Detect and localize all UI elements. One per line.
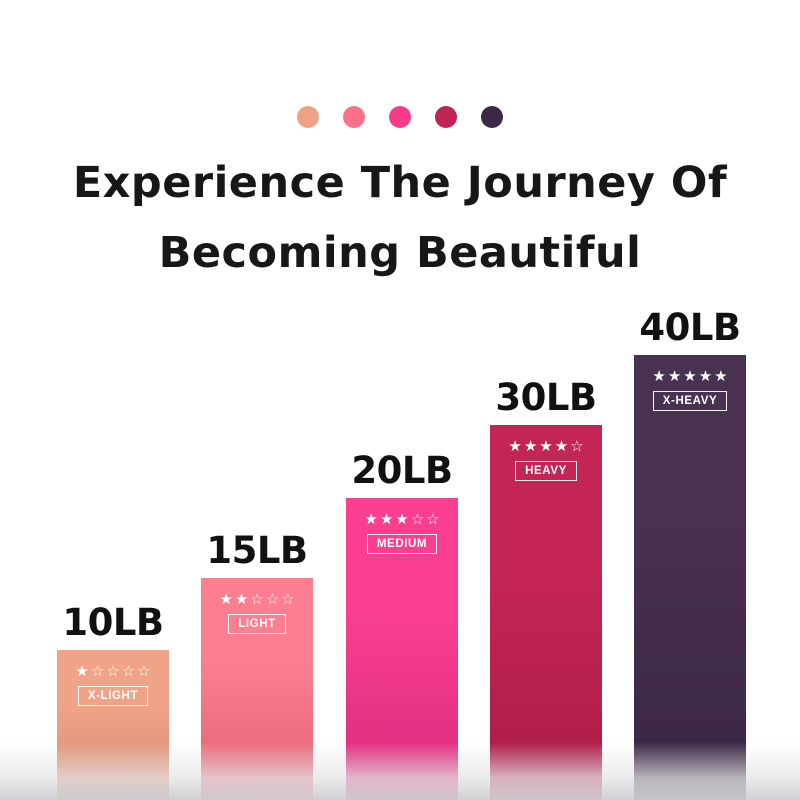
star-rating: ★★★★☆: [508, 439, 583, 454]
bar-badge: ★★★☆☆MEDIUM: [346, 512, 458, 554]
bar[interactable]: ★★★☆☆MEDIUM: [346, 498, 458, 800]
bar-badge: ★☆☆☆☆X-LIGHT: [57, 664, 169, 706]
star-filled-icon: ★: [668, 369, 681, 384]
level-label: LIGHT: [228, 614, 286, 634]
bar-value-label: 15LB: [206, 529, 307, 572]
star-empty-icon: ☆: [281, 592, 294, 607]
star-filled-icon: ★: [395, 512, 408, 527]
star-empty-icon: ☆: [250, 592, 263, 607]
star-empty-icon: ☆: [122, 664, 135, 679]
star-filled-icon: ★: [683, 369, 696, 384]
bar[interactable]: ★★☆☆☆LIGHT: [201, 578, 313, 800]
bar-fill: [490, 425, 602, 800]
star-empty-icon: ☆: [411, 512, 424, 527]
bar[interactable]: ★☆☆☆☆X-LIGHT: [57, 650, 169, 800]
bar-value-label: 20LB: [351, 449, 452, 492]
bar-group-x-heavy[interactable]: 40LB★★★★★X-HEAVY: [634, 355, 746, 800]
bar-badge: ★★☆☆☆LIGHT: [201, 592, 313, 634]
star-filled-icon: ★: [364, 512, 377, 527]
star-empty-icon: ☆: [106, 664, 119, 679]
star-rating: ★☆☆☆☆: [75, 664, 150, 679]
star-filled-icon: ★: [539, 439, 552, 454]
resistance-bar-chart: 10LB★☆☆☆☆X-LIGHT15LB★★☆☆☆LIGHT20LB★★★☆☆M…: [0, 0, 800, 800]
star-empty-icon: ☆: [137, 664, 150, 679]
bar-badge: ★★★★★X-HEAVY: [634, 369, 746, 411]
star-empty-icon: ☆: [570, 439, 583, 454]
star-rating: ★★☆☆☆: [219, 592, 294, 607]
bar-value-label: 10LB: [62, 601, 163, 644]
bar-group-x-light[interactable]: 10LB★☆☆☆☆X-LIGHT: [57, 650, 169, 800]
level-label: X-HEAVY: [653, 391, 727, 411]
bar[interactable]: ★★★★☆HEAVY: [490, 425, 602, 800]
star-filled-icon: ★: [235, 592, 248, 607]
star-filled-icon: ★: [699, 369, 712, 384]
bar-value-label: 40LB: [639, 306, 740, 349]
level-label: HEAVY: [515, 461, 577, 481]
star-filled-icon: ★: [508, 439, 521, 454]
star-filled-icon: ★: [714, 369, 727, 384]
level-label: X-LIGHT: [78, 686, 148, 706]
star-rating: ★★★★★: [652, 369, 727, 384]
level-label: MEDIUM: [367, 534, 437, 554]
star-rating: ★★★☆☆: [364, 512, 439, 527]
bar-group-medium[interactable]: 20LB★★★☆☆MEDIUM: [346, 498, 458, 800]
star-filled-icon: ★: [75, 664, 88, 679]
bar-value-label: 30LB: [495, 376, 596, 419]
star-filled-icon: ★: [380, 512, 393, 527]
star-empty-icon: ☆: [91, 664, 104, 679]
star-filled-icon: ★: [652, 369, 665, 384]
bar-group-light[interactable]: 15LB★★☆☆☆LIGHT: [201, 578, 313, 800]
star-filled-icon: ★: [524, 439, 537, 454]
bar[interactable]: ★★★★★X-HEAVY: [634, 355, 746, 800]
star-empty-icon: ☆: [266, 592, 279, 607]
star-filled-icon: ★: [219, 592, 232, 607]
star-empty-icon: ☆: [426, 512, 439, 527]
infographic-page: Experience The Journey Of Becoming Beaut…: [0, 0, 800, 800]
bar-fill: [634, 355, 746, 800]
bar-group-heavy[interactable]: 30LB★★★★☆HEAVY: [490, 425, 602, 800]
star-filled-icon: ★: [555, 439, 568, 454]
bar-badge: ★★★★☆HEAVY: [490, 439, 602, 481]
